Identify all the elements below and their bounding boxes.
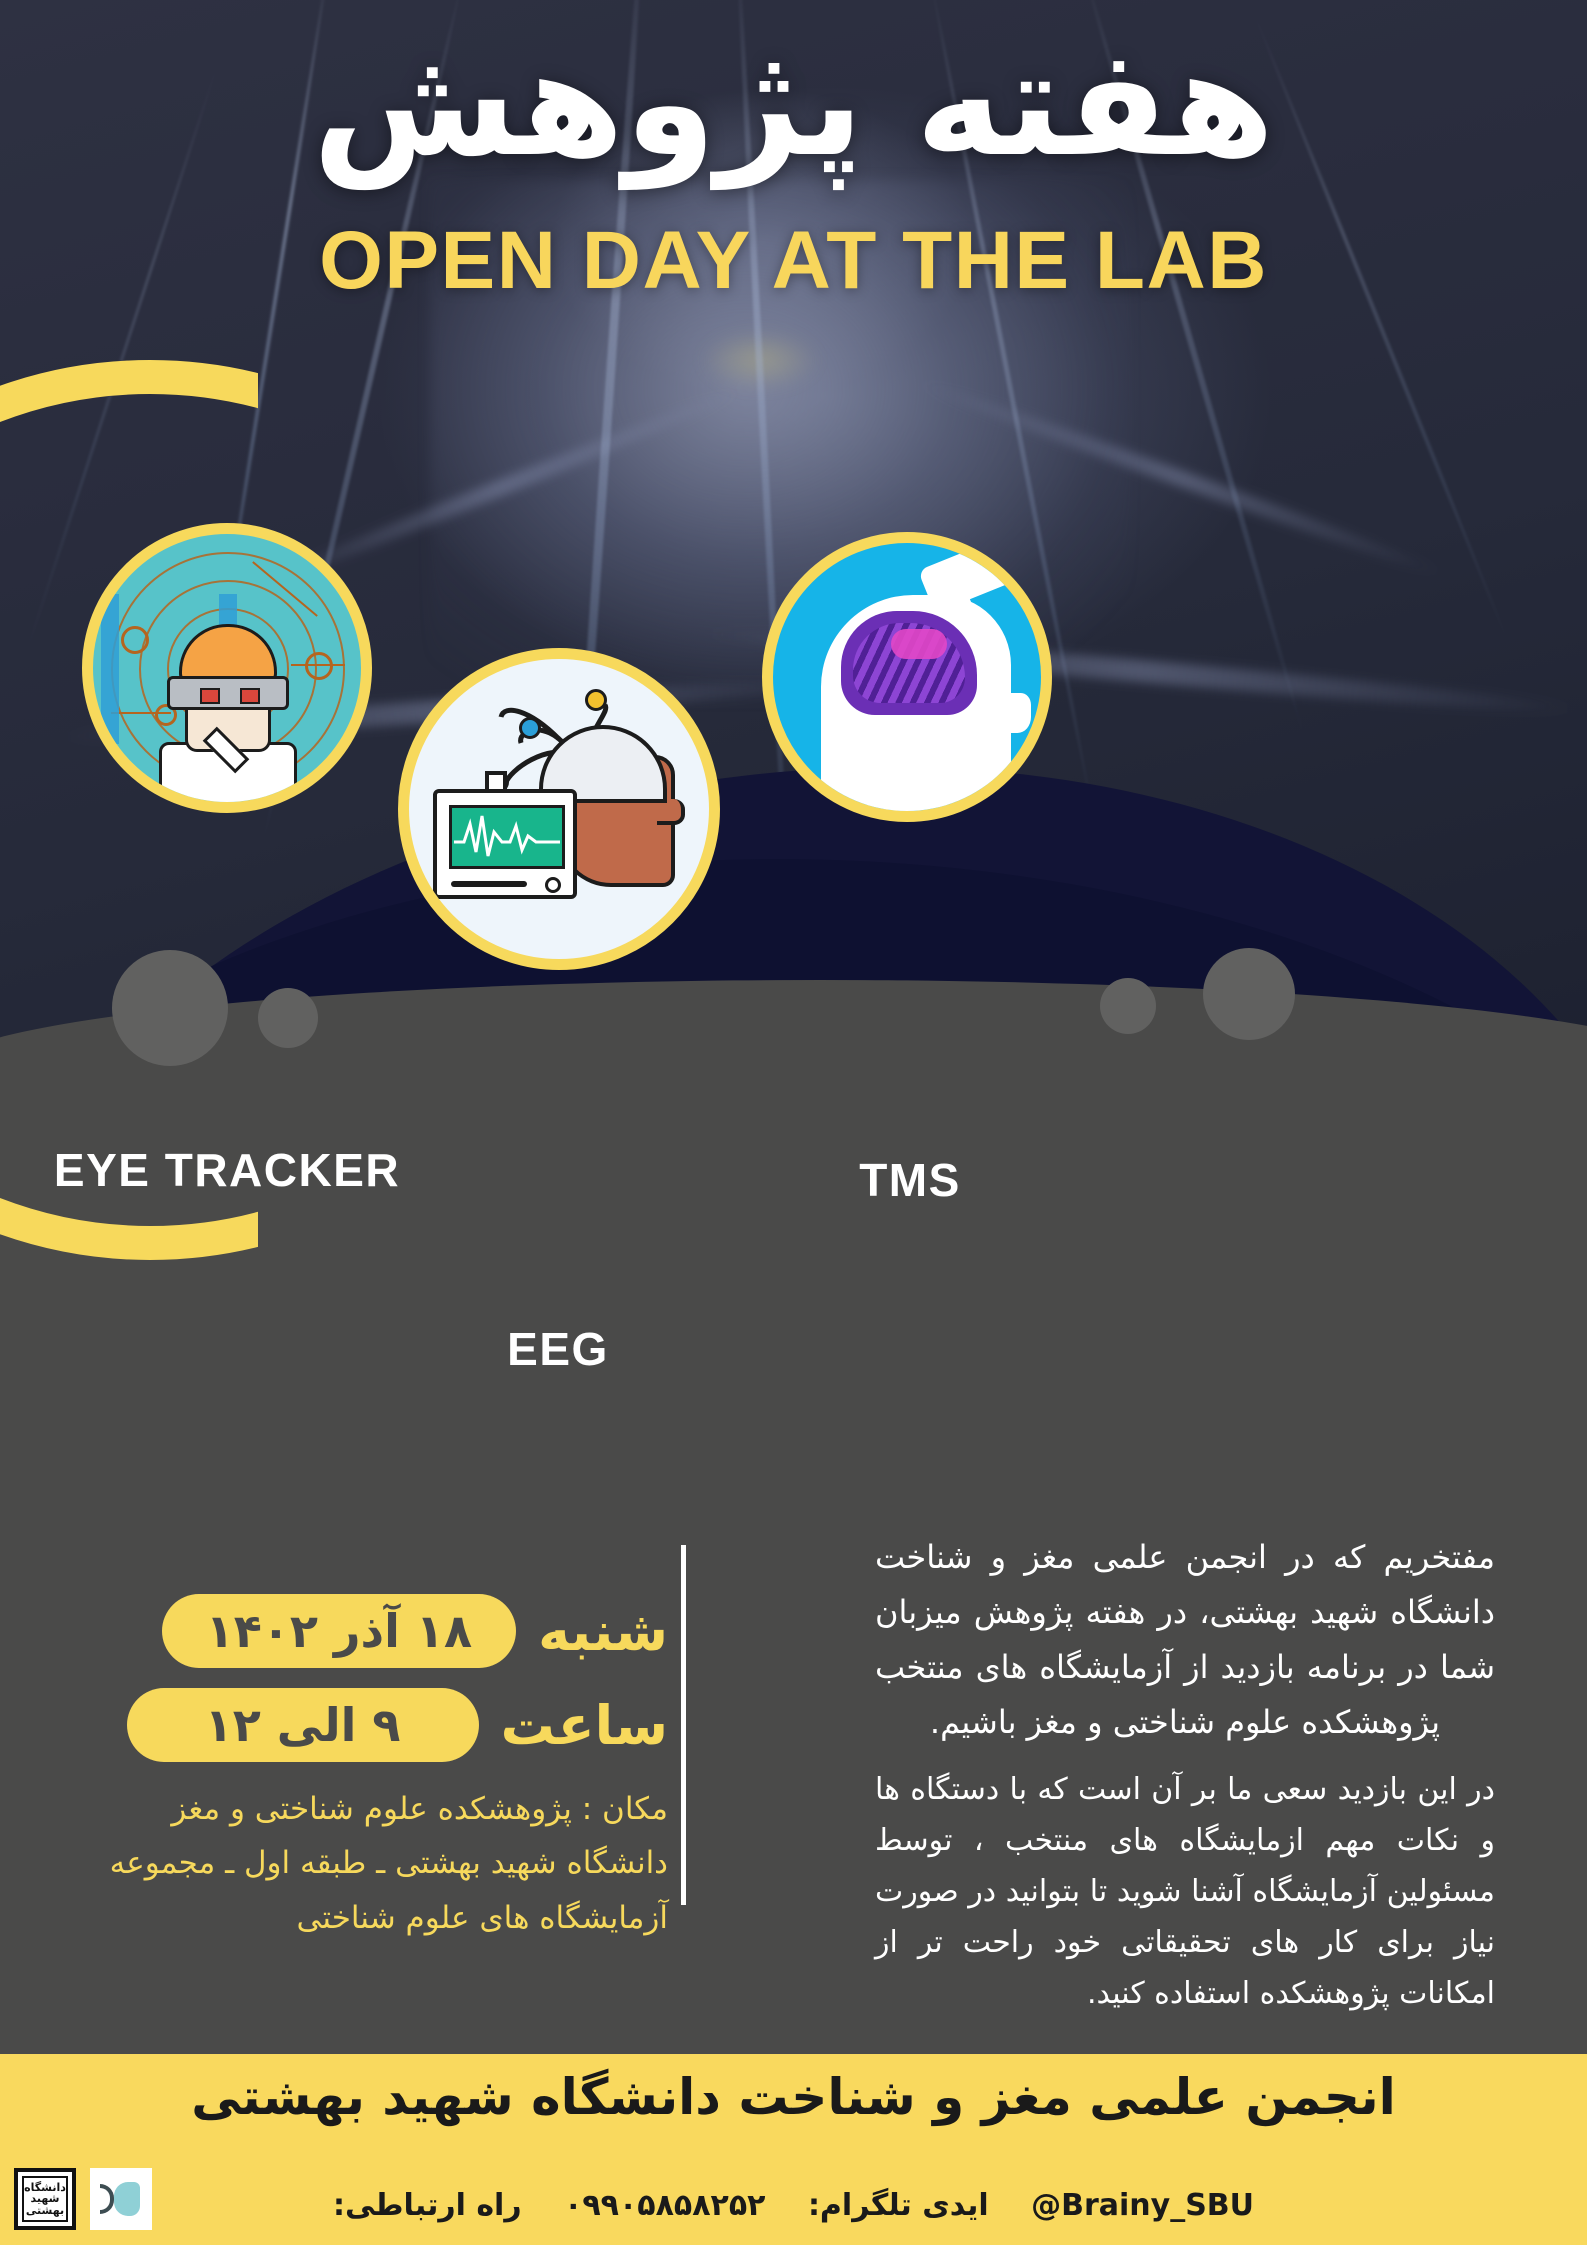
telegram-handle[interactable]: @Brainy_SBU — [1031, 2188, 1254, 2223]
tms-nose — [997, 693, 1031, 733]
schedule-time-row: ساعت ۹ الی ۱۲ — [58, 1688, 668, 1762]
eeg-monitor-icon — [433, 789, 577, 899]
eye-tracker-hair — [179, 624, 277, 682]
eeg-waveform-icon — [452, 808, 562, 866]
eeg-electrode-icon — [585, 689, 607, 711]
logo-brain-association-icon — [90, 2168, 152, 2230]
schedule-day-value: ۱۸ آذر ۱۴۰۲ — [162, 1594, 516, 1668]
eeg-electrode-icon — [519, 717, 541, 739]
schedule-block: شنبه ۱۸ آذر ۱۴۰۲ ساعت ۹ الی ۱۲ مکان : پژ… — [58, 1594, 668, 1945]
eye-tracker-lens — [200, 688, 220, 704]
decorative-dot — [112, 950, 228, 1066]
footer-contact-line: @Brainy_SBU ایدی تلگرام: ۰۹۹۰۵۸۵۸۲۵۲ راه… — [0, 2188, 1587, 2223]
description-block: مفتخریم که در انجمن علمی مغز و شناخت دان… — [875, 1530, 1495, 2019]
schedule-day-row: شنبه ۱۸ آذر ۱۴۰۲ — [58, 1594, 668, 1668]
footer-organization: انجمن علمی مغز و شناخت دانشگاه شهید بهشت… — [0, 2068, 1587, 2126]
poster-title-english: OPEN DAY AT THE LAB — [0, 214, 1587, 308]
description-paragraph-1: مفتخریم که در انجمن علمی مغز و شناخت دان… — [875, 1530, 1495, 1750]
contact-phone: ۰۹۹۰۵۸۵۸۲۵۲ — [564, 2188, 765, 2223]
badge-tms — [762, 532, 1052, 822]
brain-logo-stem — [100, 2184, 114, 2214]
contact-label: راه ارتباطی: — [333, 2188, 522, 2223]
badge-label-eeg: EEG — [388, 1322, 728, 1376]
badge-label-tms: TMS — [770, 1153, 1050, 1207]
badge-eeg — [398, 648, 720, 970]
schedule-time-value: ۹ الی ۱۲ — [127, 1688, 479, 1762]
eye-tracker-person-icon — [151, 624, 305, 804]
decorative-dot — [258, 988, 318, 1048]
eeg-knob-icon — [545, 877, 561, 893]
decorative-dot — [1100, 978, 1156, 1034]
brain-logo-lobe — [114, 2182, 140, 2216]
description-paragraph-2: در این بازدید سعی ما بر آن است که با دست… — [875, 1764, 1495, 2019]
logo-sbu-text: دانشگاه شهید بهشتی — [22, 2176, 68, 2222]
badge-eye-tracker — [82, 523, 372, 813]
decorative-dot — [1203, 948, 1295, 1040]
schedule-day-label: شنبه — [538, 1600, 668, 1663]
logo-shahid-beheshti-university: دانشگاه شهید بهشتی — [14, 2168, 76, 2230]
poster-root: هفته پژوهش OPEN DAY AT THE LAB EYE TRACK… — [0, 0, 1587, 2245]
schedule-location: مکان : پژوهشکده علوم شناختی و مغز دانشگا… — [58, 1782, 668, 1945]
eye-tracker-lens — [240, 688, 260, 704]
eye-tracker-node-icon — [305, 652, 333, 680]
poster-title-persian: هفته پژوهش — [0, 18, 1587, 188]
eye-tracker-side-panel — [101, 594, 119, 744]
eye-tracker-goggles-icon — [167, 676, 289, 710]
eeg-screen — [449, 805, 565, 869]
vertical-divider — [681, 1545, 686, 1905]
schedule-time-label: ساعت — [501, 1694, 668, 1757]
badge-label-eye-tracker: EYE TRACKER — [42, 1143, 412, 1197]
telegram-label: ایدی تلگرام: — [808, 2188, 989, 2223]
eeg-panel-slot — [451, 881, 527, 887]
eye-tracker-node-icon — [121, 626, 149, 654]
tms-stimulation-zone — [891, 629, 947, 659]
